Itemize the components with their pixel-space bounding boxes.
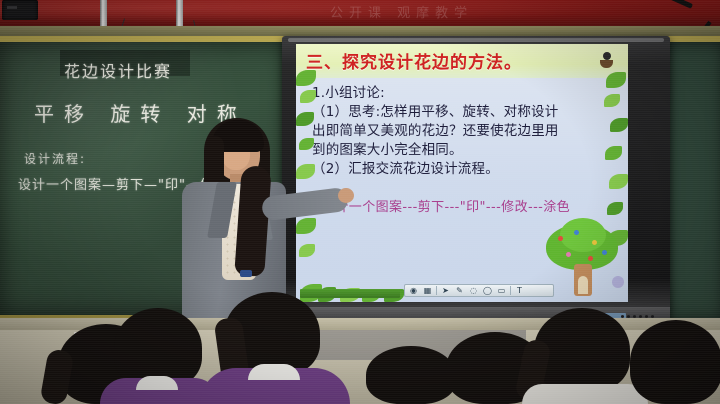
slide-line-1: 1.小组讨论: (312, 84, 612, 103)
text-icon[interactable]: T (514, 285, 525, 296)
slide-line-5: （2）汇报交流花边设计流程。 (312, 160, 612, 179)
pen-icon[interactable]: ✎ (454, 285, 465, 296)
tree-house-illustration (544, 224, 620, 298)
teacher-hand (338, 188, 354, 203)
blackboard-process-label: 设计流程: (24, 150, 86, 167)
banner-text: 公开课 观摩教学 (330, 2, 710, 22)
speaker-box (2, 0, 38, 20)
slide-flow-line: 设计一个图案---剪下---"印"---修改---涂色 (322, 196, 570, 215)
toolbar-divider (436, 286, 437, 295)
ellipse-icon[interactable]: ◯ (482, 285, 493, 296)
grid-icon[interactable]: ▦ (422, 285, 433, 296)
slide-title: 三、探究设计花边的方法。 (306, 48, 618, 73)
slide-line-4: 到的图案大小完全相同。 (312, 141, 612, 160)
bird-basket-icon (600, 58, 614, 74)
smartboard-top-trim (288, 38, 664, 42)
slide-line-2: （1）思考:怎样用平移、旋转、对称设计 (312, 103, 612, 122)
eraser-icon[interactable]: ◌ (468, 285, 479, 296)
classroom-scene: 公开课 观摩教学 花边设计比赛 平移 旋转 对称 设计流程: 设计一个图案—剪下… (0, 0, 720, 404)
teacher-badge (240, 270, 252, 277)
record-icon[interactable]: ◉ (408, 285, 419, 296)
blackboard-title: 花边设计比赛 (64, 58, 172, 82)
student-3 (200, 294, 350, 404)
slide-body: 1.小组讨论: （1）思考:怎样用平移、旋转、对称设计 出即简单又美观的花边？还… (312, 84, 612, 179)
screen-glare-dot (612, 276, 624, 288)
smartboard-toolbar[interactable]: ◉ ▦ ➤ ✎ ◌ ◯ ▭ T (404, 284, 554, 297)
toolbar-divider (510, 286, 511, 295)
blackboard-right-surface (666, 42, 720, 320)
student-7 (620, 318, 720, 404)
red-banner: 公开课 观摩教学 (0, 0, 720, 26)
cursor-icon[interactable]: ➤ (440, 285, 451, 296)
callout-icon[interactable]: ▭ (496, 285, 507, 296)
slide-line-3: 出即简单又美观的花边？还要使花边里用 (312, 122, 612, 141)
